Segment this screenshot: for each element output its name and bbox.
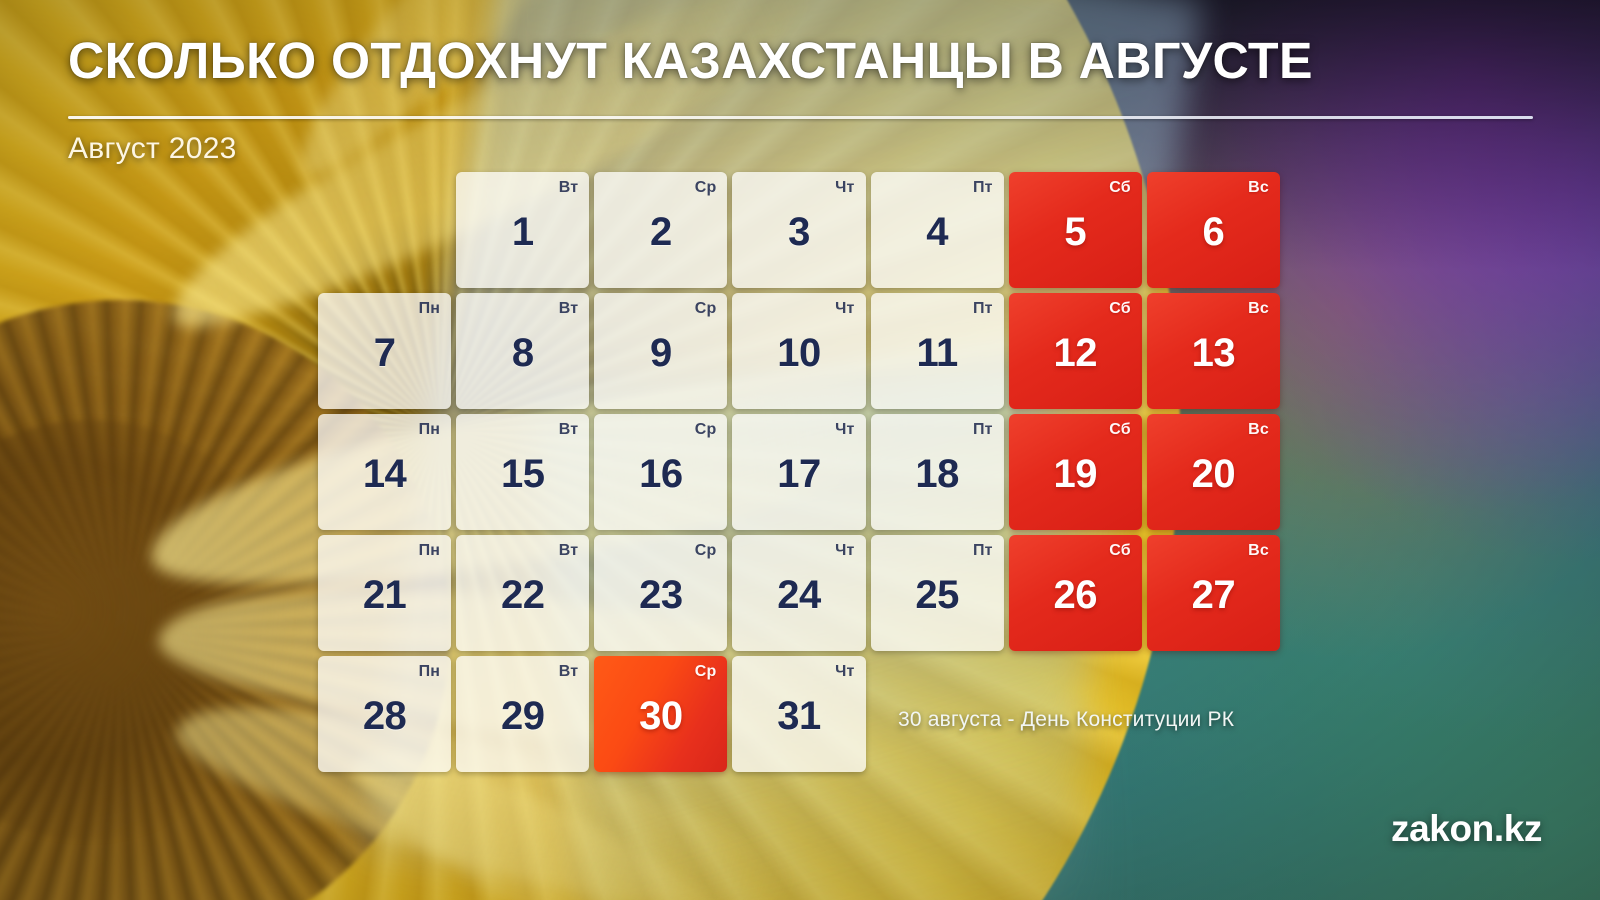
day-number: 24 <box>732 573 865 618</box>
day-of-week-label: Вт <box>559 300 579 318</box>
month-subtitle: Август 2023 <box>68 132 237 166</box>
calendar-day-cell[interactable]: Сб12 <box>1009 293 1142 409</box>
calendar-day-cell[interactable]: Пт11 <box>871 293 1004 409</box>
calendar-day-cell[interactable]: Чт24 <box>732 535 865 651</box>
calendar-day-cell[interactable]: Пн7 <box>318 293 451 409</box>
calendar-day-cell[interactable]: Чт3 <box>732 172 865 288</box>
calendar-grid: Вт1Ср2Чт3Пт4Сб5Вс6Пн7Вт8Ср9Чт10Пт11Сб12В… <box>318 172 1280 772</box>
calendar-day-cell[interactable]: Ср16 <box>594 414 727 530</box>
day-number: 19 <box>1009 452 1142 497</box>
day-of-week-label: Вт <box>559 179 579 197</box>
day-number: 13 <box>1147 331 1280 376</box>
calendar-day-cell[interactable]: Вс6 <box>1147 172 1280 288</box>
calendar-day-cell[interactable]: Ср9 <box>594 293 727 409</box>
day-of-week-label: Вт <box>559 421 579 439</box>
day-of-week-label: Пт <box>973 542 993 560</box>
calendar-day-cell[interactable]: Вт8 <box>456 293 589 409</box>
day-number: 28 <box>318 694 451 739</box>
day-number: 27 <box>1147 573 1280 618</box>
day-of-week-label: Пн <box>419 542 441 560</box>
day-of-week-label: Пт <box>973 421 993 439</box>
calendar-day-cell[interactable]: Вт15 <box>456 414 589 530</box>
day-of-week-label: Сб <box>1109 542 1131 560</box>
day-number: 31 <box>732 694 865 739</box>
calendar-day-cell[interactable]: Чт10 <box>732 293 865 409</box>
day-number: 4 <box>871 210 1004 255</box>
day-number: 2 <box>594 210 727 255</box>
day-number: 6 <box>1147 210 1280 255</box>
day-number: 21 <box>318 573 451 618</box>
site-logo: zakon.kz <box>1391 808 1542 850</box>
day-of-week-label: Сб <box>1109 421 1131 439</box>
day-number: 10 <box>732 331 865 376</box>
calendar-day-cell[interactable]: Вт1 <box>456 172 589 288</box>
day-of-week-label: Пн <box>419 663 441 681</box>
calendar-day-cell[interactable]: Пт4 <box>871 172 1004 288</box>
day-of-week-label: Чт <box>835 663 854 681</box>
day-of-week-label: Сб <box>1109 179 1131 197</box>
day-number: 9 <box>594 331 727 376</box>
calendar-day-cell[interactable]: Ср2 <box>594 172 727 288</box>
calendar-day-cell[interactable]: Чт17 <box>732 414 865 530</box>
day-of-week-label: Пт <box>973 300 993 318</box>
day-of-week-label: Пт <box>973 179 993 197</box>
day-number: 11 <box>871 331 1004 376</box>
holiday-note: 30 августа - День Конституции РК <box>898 708 1234 732</box>
day-of-week-label: Чт <box>835 179 854 197</box>
day-number: 16 <box>594 452 727 497</box>
header: СКОЛЬКО ОТДОХНУТ КАЗАХСТАНЦЫ В АВГУСТЕ <box>68 34 1540 88</box>
day-of-week-label: Вт <box>559 542 579 560</box>
day-number: 8 <box>456 331 589 376</box>
day-of-week-label: Пн <box>419 421 441 439</box>
day-number: 12 <box>1009 331 1142 376</box>
day-of-week-label: Ср <box>695 542 717 560</box>
day-number: 3 <box>732 210 865 255</box>
day-number: 14 <box>318 452 451 497</box>
day-of-week-label: Сб <box>1109 300 1131 318</box>
calendar-day-cell[interactable]: Пн14 <box>318 414 451 530</box>
title-divider <box>68 116 1533 119</box>
day-of-week-label: Чт <box>835 300 854 318</box>
day-of-week-label: Ср <box>695 179 717 197</box>
day-of-week-label: Вс <box>1248 300 1269 318</box>
calendar-day-cell[interactable]: Пт25 <box>871 535 1004 651</box>
calendar-day-cell[interactable]: Сб26 <box>1009 535 1142 651</box>
infographic-canvas: СКОЛЬКО ОТДОХНУТ КАЗАХСТАНЦЫ В АВГУСТЕ А… <box>0 0 1600 900</box>
calendar-day-cell[interactable]: Сб19 <box>1009 414 1142 530</box>
day-of-week-label: Ср <box>695 663 717 681</box>
day-number: 5 <box>1009 210 1142 255</box>
day-of-week-label: Вс <box>1248 542 1269 560</box>
day-number: 23 <box>594 573 727 618</box>
calendar-day-cell[interactable]: Чт31 <box>732 656 865 772</box>
calendar-day-cell[interactable]: Вс27 <box>1147 535 1280 651</box>
day-of-week-label: Вс <box>1248 179 1269 197</box>
day-number: 29 <box>456 694 589 739</box>
calendar-day-cell[interactable]: Вс13 <box>1147 293 1280 409</box>
day-of-week-label: Ср <box>695 421 717 439</box>
day-number: 17 <box>732 452 865 497</box>
calendar-day-cell[interactable]: Вт22 <box>456 535 589 651</box>
calendar-day-cell[interactable]: Пн21 <box>318 535 451 651</box>
calendar-day-cell[interactable]: Сб5 <box>1009 172 1142 288</box>
day-of-week-label: Пн <box>419 300 441 318</box>
day-of-week-label: Вс <box>1248 421 1269 439</box>
day-number: 15 <box>456 452 589 497</box>
day-of-week-label: Чт <box>835 542 854 560</box>
day-number: 7 <box>318 331 451 376</box>
calendar-day-cell[interactable]: Пт18 <box>871 414 1004 530</box>
day-number: 30 <box>594 694 727 739</box>
day-of-week-label: Чт <box>835 421 854 439</box>
calendar-day-cell[interactable]: Вс20 <box>1147 414 1280 530</box>
calendar-day-cell[interactable]: Пн28 <box>318 656 451 772</box>
day-number: 26 <box>1009 573 1142 618</box>
day-number: 1 <box>456 210 589 255</box>
page-title: СКОЛЬКО ОТДОХНУТ КАЗАХСТАНЦЫ В АВГУСТЕ <box>68 34 1518 88</box>
calendar-day-cell[interactable]: Ср30 <box>594 656 727 772</box>
day-number: 18 <box>871 452 1004 497</box>
day-of-week-label: Вт <box>559 663 579 681</box>
day-number: 25 <box>871 573 1004 618</box>
day-of-week-label: Ср <box>695 300 717 318</box>
day-number: 22 <box>456 573 589 618</box>
day-number: 20 <box>1147 452 1280 497</box>
calendar-day-cell[interactable]: Вт29 <box>456 656 589 772</box>
calendar-day-cell[interactable]: Ср23 <box>594 535 727 651</box>
calendar-cell-empty <box>318 172 451 288</box>
